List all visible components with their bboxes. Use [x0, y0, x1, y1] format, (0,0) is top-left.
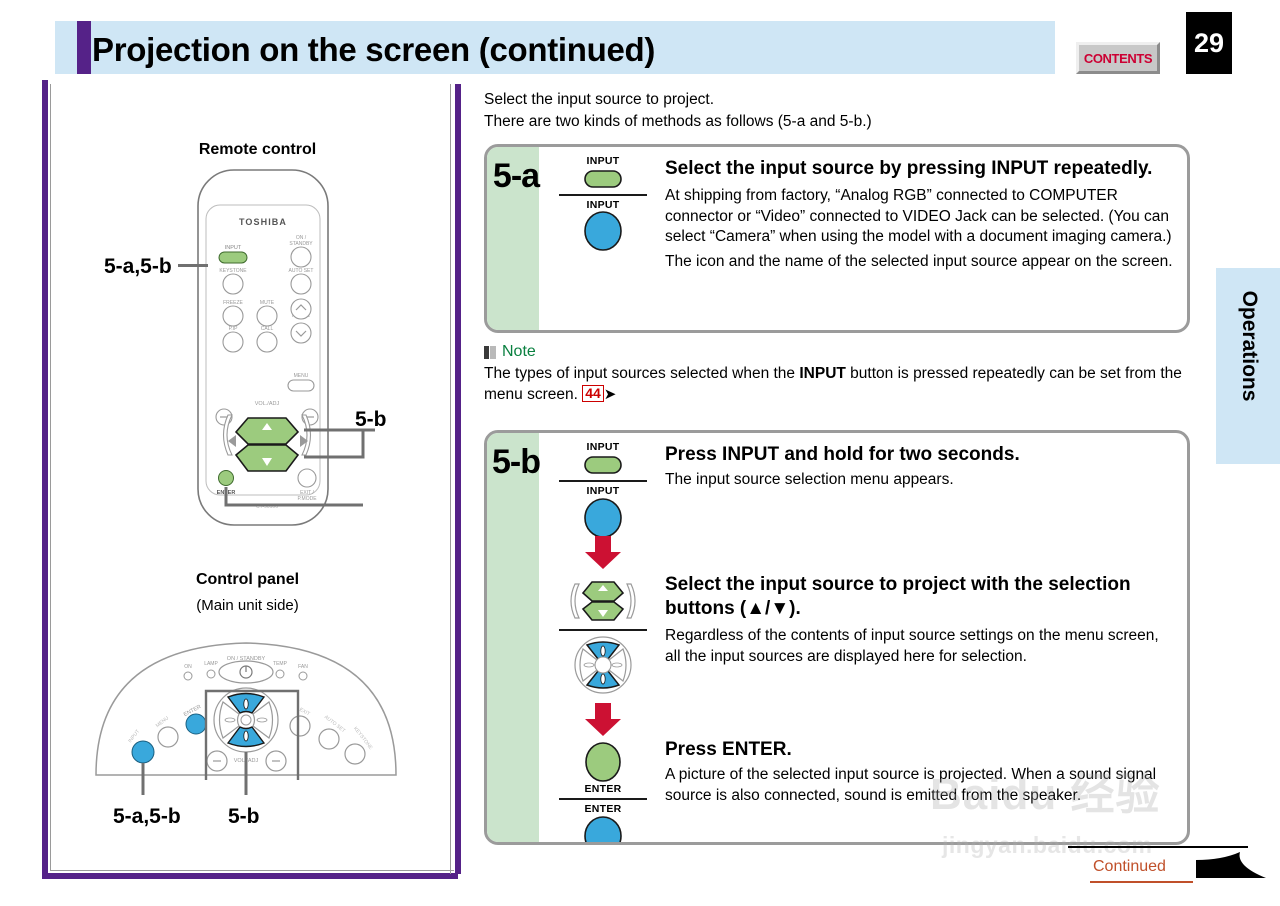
column-divider-thin — [450, 84, 451, 874]
note-label: Note — [502, 343, 536, 361]
column-divider — [455, 84, 461, 874]
step-5b-row2-icon-divider — [559, 629, 647, 631]
panel-arrow-pad-icon — [547, 634, 659, 696]
step-5b-row2-heading: Select the input source to project with … — [665, 573, 1177, 621]
down-arrow-icon — [583, 703, 623, 737]
svg-text:STANDBY: STANDBY — [289, 241, 313, 247]
continued-label: Continued — [1093, 858, 1166, 876]
step-5b-row1-icon-top-label: INPUT — [547, 441, 659, 453]
note-block: Note The types of input sources selected… — [484, 343, 1184, 405]
svg-text:CALL: CALL — [261, 326, 274, 332]
note-text: The types of input sources selected when… — [484, 363, 1184, 405]
step-5b-row2-body: Regardless of the contents of input sour… — [665, 626, 1177, 667]
step-5a-body-1: At shipping from factory, “Analog RGB” c… — [665, 186, 1177, 248]
svg-text:P.MODE: P.MODE — [297, 496, 317, 502]
svg-text:TOSHIBA: TOSHIBA — [239, 217, 287, 227]
step-5b-row2-text: Select the input source to project with … — [665, 573, 1177, 667]
svg-text:AUTO SET: AUTO SET — [289, 268, 314, 274]
panel-enter-button-icon — [547, 815, 659, 845]
step-5a-icon-column: INPUT INPUT — [547, 155, 659, 253]
section-tab-label: Operations — [1237, 251, 1261, 441]
section-tab-operations: Operations — [1216, 268, 1280, 464]
step-5b-row3-body: A picture of the selected input source i… — [665, 765, 1177, 806]
remote-input-button-icon — [547, 167, 659, 191]
svg-text:TEMP: TEMP — [273, 661, 288, 667]
step-5b-row2-icon-column — [547, 576, 659, 696]
step-5a-icon-divider — [559, 194, 647, 196]
step-5b-row1-icon-bottom-label: INPUT — [547, 485, 659, 497]
step-5b-row1-heading: Press INPUT and hold for two seconds. — [665, 443, 1177, 467]
page-number-badge: 29 — [1186, 12, 1232, 74]
header-accent-bar — [77, 21, 91, 74]
step-5a-tag: 5-a — [490, 157, 542, 196]
note-text-before: The types of input sources selected when… — [484, 365, 799, 382]
note-text-bold: INPUT — [799, 365, 846, 382]
step-5b-tag: 5-b — [490, 443, 542, 482]
contents-button-label: CONTENTS — [1084, 51, 1152, 66]
remote-input-button-icon — [547, 453, 659, 477]
step-5a-heading: Select the input source by pressing INPU… — [665, 157, 1177, 181]
step-5a-icon-top-label: INPUT — [547, 155, 659, 167]
svg-text:FREEZE: FREEZE — [223, 300, 243, 306]
remote-input-leader — [178, 264, 208, 267]
step-5b-row1-body: The input source selection menu appears. — [665, 470, 1177, 491]
continued-arrow-icon — [1196, 852, 1268, 888]
intro-line-1: Select the input source to project. — [484, 89, 1184, 111]
svg-text:INPUT: INPUT — [225, 245, 242, 251]
down-arrow-icon — [583, 536, 623, 570]
continued-underline — [1090, 881, 1193, 883]
step-5b-row1-icon-column: INPUT INPUT — [547, 441, 659, 541]
step-5b-row3-icon-bottom-label: ENTER — [547, 803, 659, 815]
control-panel-caption: Control panel — [110, 571, 385, 589]
panel-input-button-icon — [547, 497, 659, 541]
step-5b-green-column — [487, 433, 539, 842]
contents-button[interactable]: CONTENTS — [1076, 42, 1160, 74]
remote-caption: Remote control — [120, 141, 395, 159]
svg-text:VOL./ADJ: VOL./ADJ — [255, 401, 280, 407]
step-5b-row3-icon-divider — [559, 798, 647, 800]
page-reference-44[interactable]: 44 — [582, 385, 604, 402]
remote-control-diagram: TOSHIBA INPUT ON / STANDBY KEYSTONE AUTO… — [170, 165, 420, 535]
note-icon — [484, 345, 497, 360]
svg-text:ON: ON — [184, 664, 192, 670]
control-panel-subcaption: (Main unit side) — [110, 597, 385, 614]
panel-input-button-icon — [547, 211, 659, 253]
step-5b-row3-icon-top-label: ENTER — [547, 783, 659, 795]
step-5b-row3-heading: Press ENTER. — [665, 738, 1177, 762]
remote-input-callout-label: 5-a,5-b — [104, 255, 172, 279]
step-5a-icon-bottom-label: INPUT — [547, 199, 659, 211]
page-title: Projection on the screen (continued) — [92, 29, 992, 71]
remote-arrow-pad-icon — [547, 576, 659, 626]
svg-text:MENU: MENU — [294, 373, 309, 379]
panel-arrows-callout-label: 5-b — [228, 805, 260, 829]
page-reference-arrow-icon: ➤ — [604, 386, 617, 403]
svg-text:LAMP: LAMP — [204, 661, 218, 667]
control-panel-diagram: ON / STANDBY ON LAMP TEMP FAN ENTER MENU… — [88, 625, 408, 795]
footer-rule — [1068, 846, 1248, 848]
svg-text:MUTE: MUTE — [260, 300, 275, 306]
step-5a-box: 5-a INPUT INPUT Select the input source … — [484, 144, 1190, 333]
svg-text:KEYSTONE: KEYSTONE — [219, 268, 247, 274]
step-5b-row3-icon-column: ENTER ENTER — [547, 741, 659, 845]
intro-text: Select the input source to project. Ther… — [484, 89, 1184, 133]
remote-enter-button-icon — [547, 741, 659, 783]
step-5a-text: Select the input source by pressing INPU… — [665, 157, 1177, 272]
step-5b-box: 5-b INPUT INPUT Press INPUT and hold for… — [484, 430, 1190, 845]
intro-line-2: There are two kinds of methods as follow… — [484, 111, 1184, 133]
panel-input-callout-label: 5-a,5-b — [113, 805, 181, 829]
step-5b-row3-text: Press ENTER. A picture of the selected i… — [665, 738, 1177, 806]
svg-text:P.IP: P.IP — [229, 326, 238, 332]
svg-text:FAN: FAN — [298, 664, 308, 670]
step-5a-body-2: The icon and the name of the selected in… — [665, 252, 1177, 273]
remote-arrows-callout-label: 5-b — [355, 408, 387, 432]
step-5b-row1-icon-divider — [559, 480, 647, 482]
step-5b-row1-text: Press INPUT and hold for two seconds. Th… — [665, 443, 1177, 491]
